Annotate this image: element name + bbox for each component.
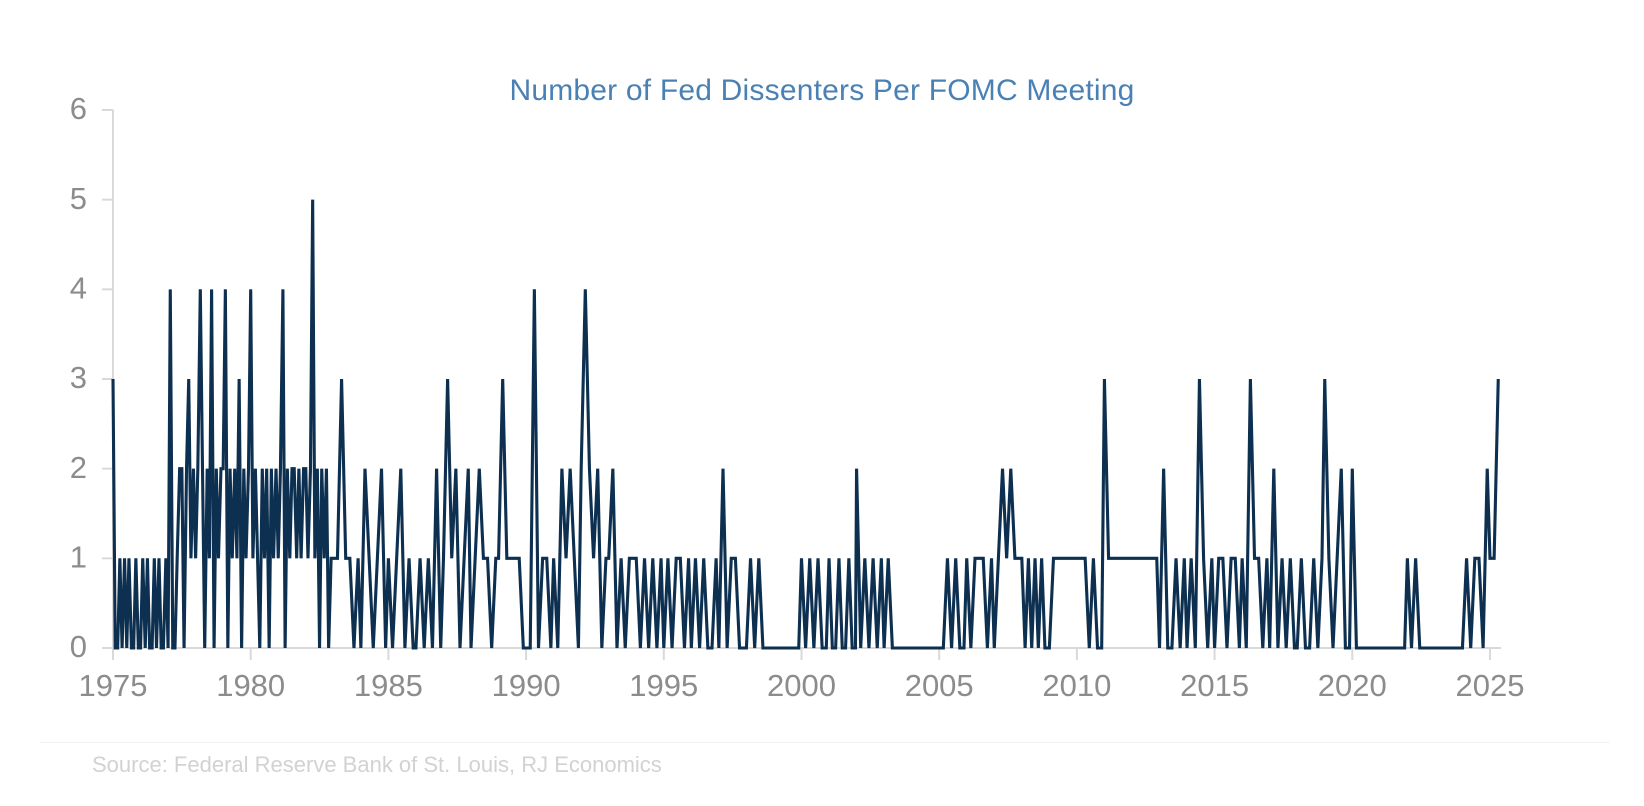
data-series-group: [113, 200, 1498, 648]
x-tick-label: 2015: [1180, 668, 1249, 703]
y-axis: 0123456: [70, 91, 113, 664]
x-tick-label: 2010: [1042, 668, 1111, 703]
y-tick-label: 2: [70, 450, 87, 485]
source-divider: [40, 742, 1610, 743]
y-tick-label: 4: [70, 271, 87, 306]
x-tick-label: 2020: [1318, 668, 1387, 703]
x-tick-label: 1980: [216, 668, 285, 703]
chart-plot-svg: 0123456 19751980198519901995200020052010…: [0, 0, 1644, 806]
x-tick-label: 2025: [1455, 668, 1524, 703]
x-tick-label: 1995: [629, 668, 698, 703]
y-tick-label: 0: [70, 629, 87, 664]
x-tick-label: 1990: [492, 668, 561, 703]
chart-plot-container: 0123456 19751980198519901995200020052010…: [0, 0, 1644, 806]
source-note: Source: Federal Reserve Bank of St. Loui…: [92, 752, 662, 778]
x-tick-label: 2000: [767, 668, 836, 703]
x-tick-label: 2005: [905, 668, 974, 703]
y-tick-label: 1: [70, 540, 87, 575]
x-axis: 1975198019851990199520002005201020152020…: [79, 648, 1525, 703]
x-tick-label: 1975: [79, 668, 148, 703]
data-series-line-0: [113, 200, 1498, 648]
y-tick-label: 3: [70, 360, 87, 395]
x-tick-label: 1985: [354, 668, 423, 703]
y-tick-label: 6: [70, 91, 87, 126]
y-tick-label: 5: [70, 181, 87, 216]
chart-figure: Number of Fed Dissenters Per FOMC Meetin…: [0, 0, 1644, 806]
